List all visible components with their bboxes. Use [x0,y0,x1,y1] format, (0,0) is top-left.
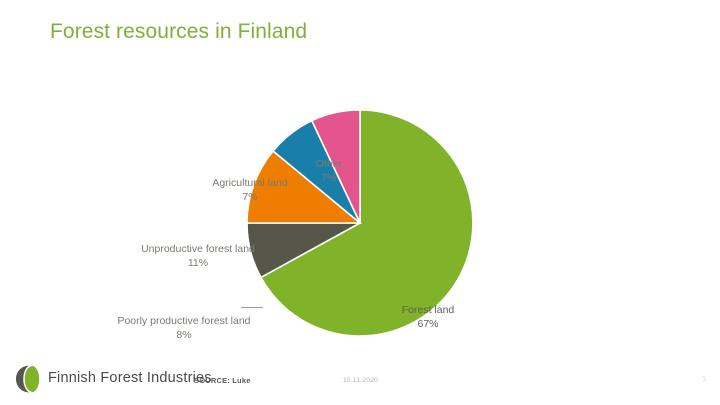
slide-canvas: Forest resources in Finland Other 7% [0,0,720,405]
pie-label-agricultural-land-value: 7% [186,191,314,205]
pie-label-poorly-productive-forest-land-value: 8% [110,329,258,343]
pie-label-agricultural-land-name: Agricultural land [212,177,287,189]
pie-label-other-name: Other [316,158,342,170]
footer-date: 10.11.2020 [343,377,378,384]
pie-label-agricultural-land: Agricultural land 7% [186,163,314,218]
pie-label-forest-land: Forest land 67% [380,290,476,345]
brand-name: Finnish Forest Industries [48,370,212,386]
pie-label-forest-land-name: Forest land [402,304,455,316]
pie-label-unproductive-forest-land: Unproductive forest land 11% [118,229,278,284]
finnish-forest-industries-logo-icon [14,364,44,394]
pie-chart-svg [0,60,720,360]
pie-label-unproductive-forest-land-value: 11% [118,257,278,271]
pie-label-poorly-productive-forest-land: Poorly productive forest land 8% [110,301,258,356]
pie-chart: Other 7% Agricultural land 7% Unproducti… [0,60,720,360]
pie-label-poorly-productive-forest-land-name: Poorly productive forest land [117,315,250,327]
slide-footer: Finnish Forest Industries SOURCE: Luke 1… [0,360,720,405]
pie-label-unproductive-forest-land-name: Unproductive forest land [141,243,255,255]
page-number: 1 [702,376,706,383]
pie-label-forest-land-value: 67% [380,318,476,332]
source-text: SOURCE: Luke [194,376,251,385]
page-title: Forest resources in Finland [50,20,307,44]
